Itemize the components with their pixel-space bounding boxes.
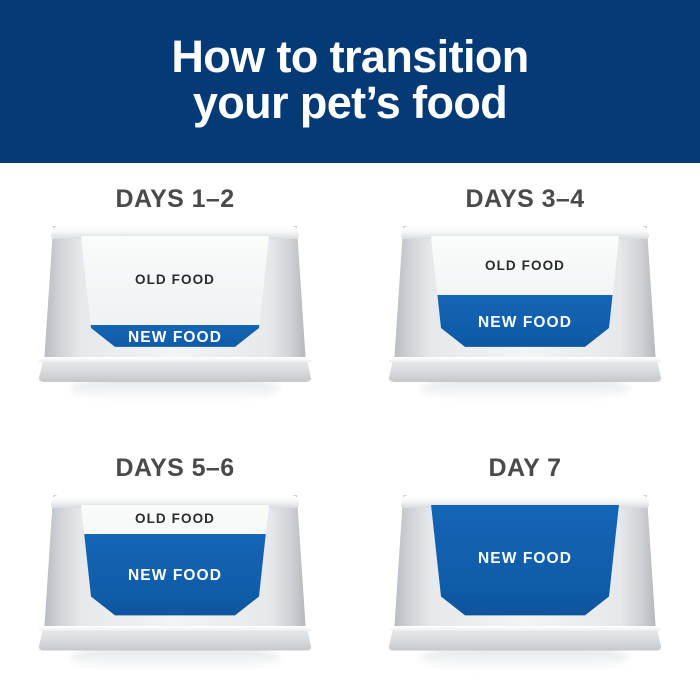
- old-food-label: OLD FOOD: [135, 272, 215, 287]
- bowl-food-cavity: OLD FOOD NEW FOOD: [75, 236, 275, 354]
- step-label: DAYS 5–6: [115, 454, 234, 483]
- old-food-label: OLD FOOD: [485, 258, 565, 273]
- page-title: How to transition your pet’s food: [171, 34, 528, 130]
- old-food-label: OLD FOOD: [135, 511, 215, 526]
- food-bowl: NEW FOOD: [394, 495, 656, 655]
- transition-steps-grid: DAYS 1–2 OLD FOOD NEW FOOD DAYS 3–4: [0, 163, 700, 700]
- food-bowl: OLD FOOD NEW FOOD: [394, 226, 656, 386]
- bowl-food-cavity: OLD FOOD NEW FOOD: [425, 236, 625, 354]
- bowl-food-cavity: OLD FOOD NEW FOOD: [75, 505, 275, 623]
- step-label: DAYS 3–4: [465, 185, 584, 214]
- page-title-line-1: How to transition: [171, 34, 528, 80]
- bowl-base-highlight: [388, 626, 662, 631]
- new-food-label: NEW FOOD: [128, 329, 222, 347]
- food-bowl: OLD FOOD NEW FOOD: [44, 226, 306, 386]
- header-banner: How to transition your pet’s food: [0, 0, 700, 163]
- bowl-food-cavity: NEW FOOD: [425, 505, 625, 623]
- bowl-base-highlight: [388, 357, 662, 362]
- step-days-5-6: DAYS 5–6 OLD FOOD NEW FOOD: [0, 432, 350, 700]
- bowl-base-highlight: [38, 626, 312, 631]
- step-label: DAY 7: [489, 454, 562, 483]
- new-food-region: NEW FOOD: [425, 505, 625, 623]
- bowl-base-highlight: [38, 357, 312, 362]
- step-days-1-2: DAYS 1–2 OLD FOOD NEW FOOD: [0, 163, 350, 432]
- page-title-line-2: your pet’s food: [171, 80, 528, 126]
- step-day-7: DAY 7 NEW FOOD: [350, 432, 700, 700]
- new-food-label: NEW FOOD: [478, 550, 572, 568]
- step-days-3-4: DAYS 3–4 OLD FOOD NEW FOOD: [350, 163, 700, 432]
- step-label: DAYS 1–2: [115, 185, 234, 214]
- food-bowl: OLD FOOD NEW FOOD: [44, 495, 306, 655]
- new-food-label: NEW FOOD: [478, 314, 572, 332]
- new-food-label: NEW FOOD: [128, 567, 222, 585]
